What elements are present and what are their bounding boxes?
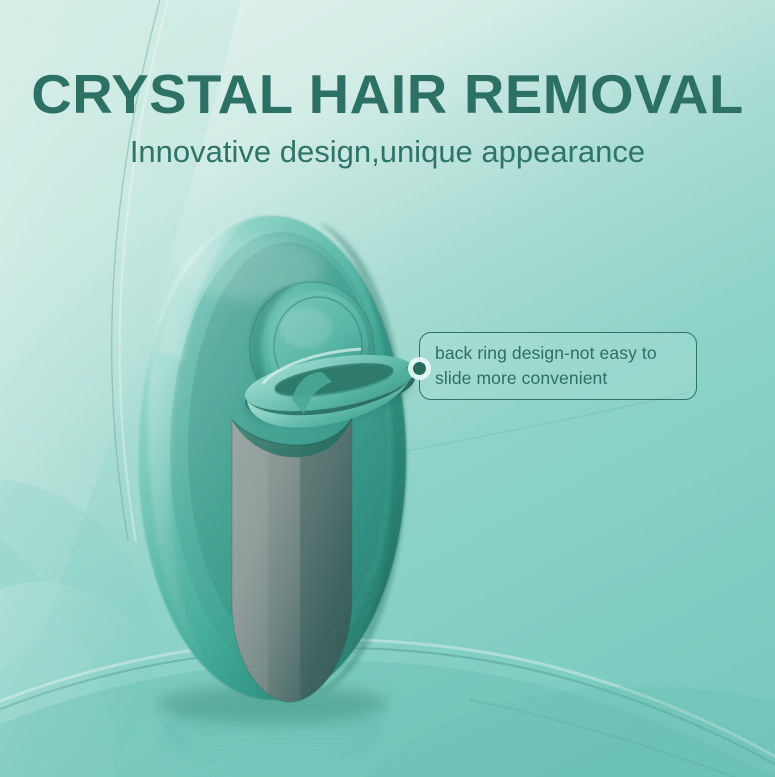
callout-text: back ring design-not easy to slide more …	[435, 341, 687, 391]
product-poster: CRYSTAL HAIR REMOVAL Innovative design,u…	[0, 0, 775, 777]
product-button-highlight	[280, 308, 332, 348]
page-title: CRYSTAL HAIR REMOVAL	[0, 66, 775, 124]
callout-text-line2: slide more convenient	[435, 366, 687, 391]
callout-anchor-dot	[413, 362, 426, 375]
page-subtitle: Innovative design,unique appearance	[0, 133, 775, 170]
callout-text-line1: back ring design-not easy to	[435, 341, 687, 366]
